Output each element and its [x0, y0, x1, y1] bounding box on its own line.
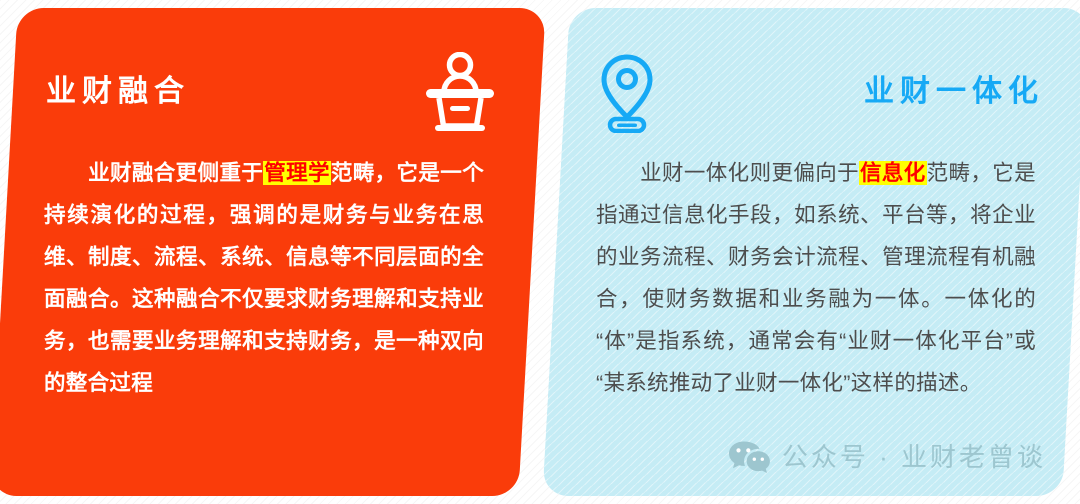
card-left-title: 业财融合 — [46, 77, 190, 107]
card-left-highlight: 管理学 — [263, 161, 331, 185]
card-right-header: 业财一体化 — [596, 52, 1044, 132]
card-left-content: 业财融合 业财融合更侧重于管理学范畴，它是一个持续演化的过程，强调的是财务与业务… — [4, 8, 532, 496]
wechat-icon — [728, 440, 770, 474]
card-left-paragraph: 业财融合更侧重于管理学范畴，它是一个持续演化的过程，强调的是财务与业务在思维、制… — [44, 152, 484, 404]
card-right-paragraph: 业财一体化则更偏向于信息化范畴，它是指通过信息化手段，如系统、平台等，将企业的业… — [596, 152, 1036, 404]
card-right-content: 业财一体化 业财一体化则更偏向于信息化范畴，它是指通过信息化手段，如系统、平台等… — [556, 8, 1076, 496]
card-right-text-part1: 业财一体化则更偏向于 — [640, 161, 859, 185]
comparison-card-stage: 业财融合 业财融合更侧重于管理学范畴，它是一个持续演化的过程，强调的是财务与业务… — [0, 0, 1080, 504]
card-right-highlight: 信息化 — [859, 161, 927, 185]
location-pin-icon — [596, 51, 658, 133]
card-business-finance-unification: 业财一体化 业财一体化则更偏向于信息化范畴，它是指通过信息化手段，如系统、平台等… — [542, 8, 1080, 496]
card-left-header: 业财融合 — [46, 52, 496, 132]
wechat-credit-text: 公众号 · 业财老曾谈 — [782, 444, 1046, 470]
wechat-credit: 公众号 · 业财老曾谈 — [728, 440, 1046, 474]
card-left-text-part2: 范畴，它是一个持续演化的过程，强调的是财务与业务在思维、制度、流程、系统、信息等… — [44, 161, 484, 395]
card-business-finance-integration: 业财融合 业财融合更侧重于管理学范畴，它是一个持续演化的过程，强调的是财务与业务… — [0, 8, 546, 496]
card-right-text-part2: 范畴，它是指通过信息化手段，如系统、平台等，将企业的业务流程、财务会计流程、管理… — [596, 161, 1036, 395]
card-left-text-part1: 业财融合更侧重于 — [88, 161, 263, 185]
card-right-title: 业财一体化 — [864, 77, 1044, 107]
podium-speaker-icon — [424, 52, 496, 132]
